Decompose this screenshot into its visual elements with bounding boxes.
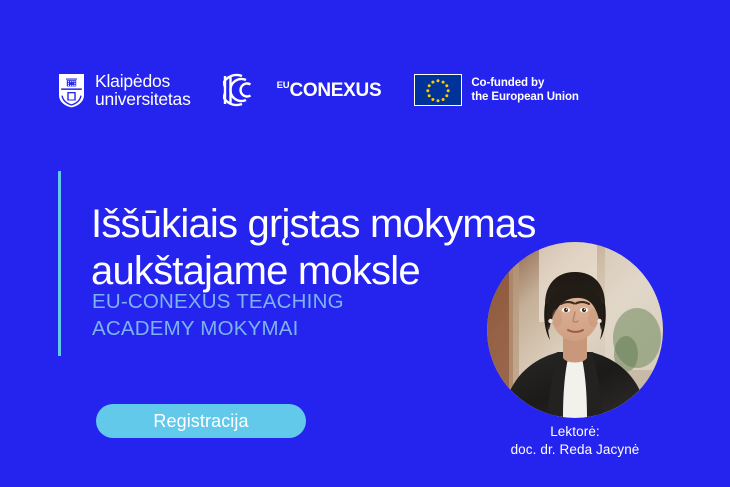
page-subtitle: EU-CONEXUS TEACHING ACADEMY MOKYMAI xyxy=(92,288,452,342)
klaipeda-university-name: Klaipėdos universitetas xyxy=(95,72,191,109)
klaipeda-university-shield-icon xyxy=(58,73,85,108)
registration-button[interactable]: Registracija xyxy=(96,404,306,438)
headline-accent-rule xyxy=(58,171,61,356)
lecturer-photo xyxy=(487,242,663,418)
eu-conexus-main-word: CONEXUS xyxy=(289,81,381,100)
eu-conexus-wordmark: EUCONEXUS xyxy=(277,81,382,100)
eu-conexus-arcs-icon xyxy=(223,73,269,107)
lecturer-caption: Lektorė: doc. dr. Reda Jacynė xyxy=(455,423,695,459)
eu-conexus-logo: EUCONEXUS xyxy=(223,73,382,107)
eu-funding-text: Co-funded by the European Union xyxy=(471,76,578,104)
avatar xyxy=(487,242,663,418)
event-poster: Klaipėdos universitetas EUCONEXUS xyxy=(0,0,730,487)
eu-conexus-prefix: EU xyxy=(277,81,290,91)
klaipeda-university-logo: Klaipėdos universitetas xyxy=(58,72,191,109)
european-union-flag-icon xyxy=(414,74,462,106)
eu-funding-badge: Co-funded by the European Union xyxy=(414,74,578,106)
logo-bar: Klaipėdos universitetas EUCONEXUS xyxy=(58,66,579,114)
